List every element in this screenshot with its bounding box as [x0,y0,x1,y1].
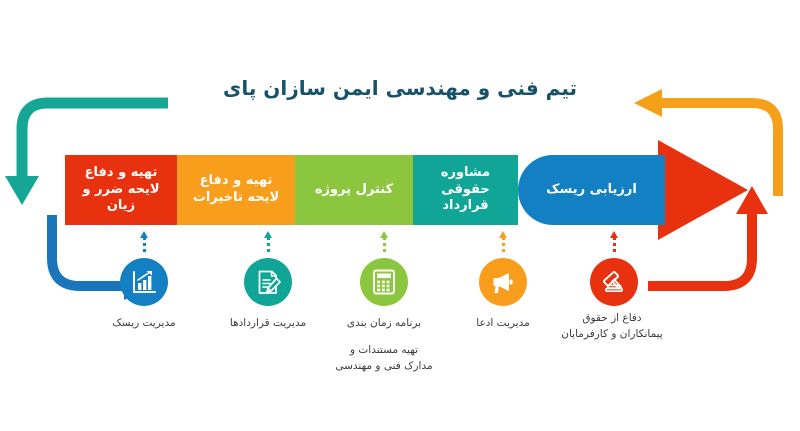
node-risk-assessment[interactable] [120,258,168,306]
caption-damages-claim-defense: دفاع از حقوق پیمانکاران و کارفرمایان [548,311,676,343]
arrowhead-triangle [658,140,748,240]
megaphone-icon [489,269,517,295]
bar-arrowhead [658,140,748,240]
connector-dots [502,237,505,255]
stage-segment-label: مشاوره حقوقی قرارداد [413,165,518,215]
caption-delay-claim-defense: مدیریت ادعا [451,316,555,332]
infographic-canvas: تیم فنی و مهندسی ایمن سازان پای ارز [0,0,800,431]
stage-segment-label: تهیه و دفاع لایحه تاخیرات [189,173,283,206]
node-project-control[interactable] [360,258,408,306]
stage-segment-risk-assessment[interactable]: ارزیابی ریسک [518,155,665,225]
calculator-icon [372,269,396,295]
stage-segment-project-control[interactable]: کنترل پروژه [295,155,413,225]
stage-segment-contract-legal-consulting[interactable]: مشاوره حقوقی قرارداد [413,155,518,225]
bar-chart-growth-icon [131,269,157,295]
stage-segment-delay-claim-defense[interactable]: تهیه و دفاع لایحه تاخیرات [177,155,295,225]
connector-contract-legal-consulting [267,231,270,255]
stage-segment-label: ارزیابی ریسک [542,182,641,199]
node-delay-claim-defense[interactable] [479,258,527,306]
caption-project-control: برنامه زمان بندی [330,316,438,332]
caption-sub-project-control: تهیه مستندات و مدارک فنی و مهندسی [318,343,450,375]
process-bar: ارزیابی ریسک مشاوره حقوقی قرارداد کنترل … [65,155,665,225]
node-contract-legal-consulting[interactable] [244,258,292,306]
connector-dots [613,237,616,255]
connector-dots [383,237,386,255]
node-damages-claim-defense[interactable] [590,258,638,306]
connector-risk-assessment [143,231,146,255]
stage-segment-label: کنترل پروژه [311,182,397,199]
stage-segment-label: تهیه و دفاع لایحه ضرر و زیان [65,165,177,215]
document-pencil-icon [255,269,282,296]
gavel-icon [601,269,628,296]
caption-risk-assessment: مدیریت ریسک [92,316,196,332]
connector-dots [143,237,146,255]
page-title: تیم فنی و مهندسی ایمن سازان پای [0,76,800,100]
connector-project-control [383,231,386,255]
connector-dots [267,237,270,255]
caption-contract-legal-consulting: مدیریت قراردادها [214,316,322,332]
connector-delay-claim-defense [502,231,505,255]
connector-damages-claim-defense [613,231,616,255]
stage-segment-damages-claim-defense[interactable]: تهیه و دفاع لایحه ضرر و زیان [65,155,177,225]
